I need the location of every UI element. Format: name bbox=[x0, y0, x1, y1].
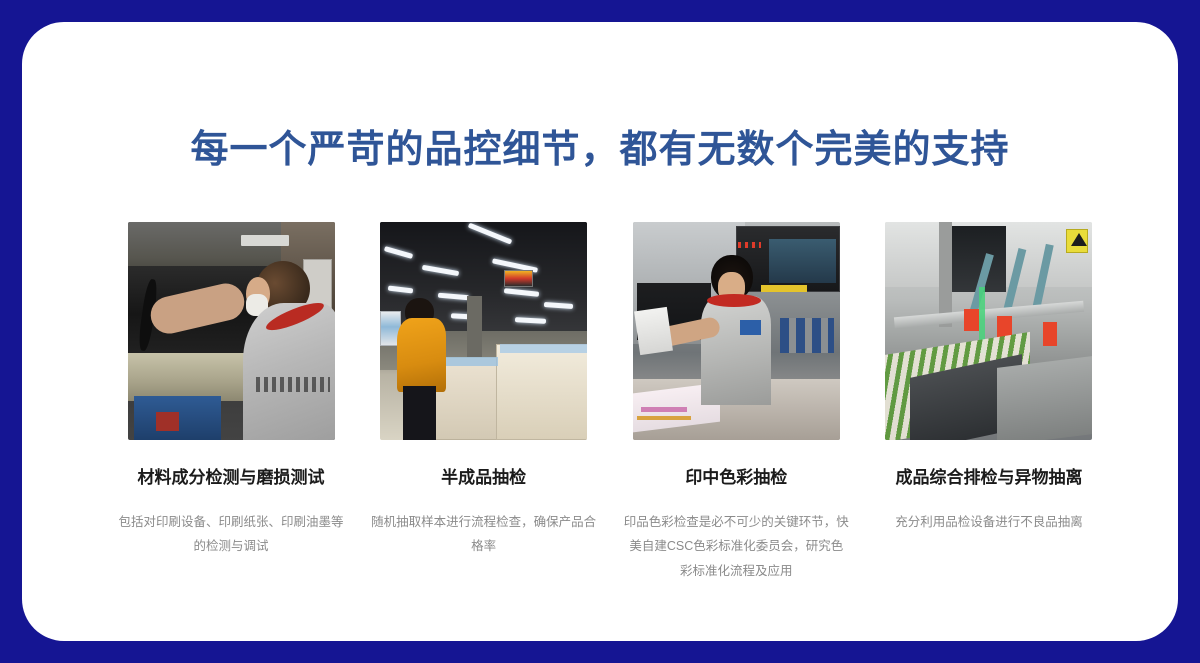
content-panel: 每一个严苛的品控细节，都有无数个完美的支持 材料成分检测与磨损测试 包括对印刷设… bbox=[22, 22, 1178, 641]
page-title: 每一个严苛的品控细节，都有无数个完美的支持 bbox=[22, 118, 1178, 173]
card-title: 材料成分检测与磨损测试 bbox=[138, 467, 325, 489]
page-frame: 每一个严苛的品控细节，都有无数个完美的支持 材料成分检测与磨损测试 包括对印刷设… bbox=[0, 0, 1200, 663]
card-title: 成品综合排检与异物抽离 bbox=[895, 467, 1082, 489]
card-material-inspection[interactable]: 材料成分检测与磨损测试 包括对印刷设备、印刷纸张、印刷油墨等的检测与调试 bbox=[115, 222, 347, 559]
card-description: 随机抽取样本进行流程检查，确保产品合格率 bbox=[371, 510, 597, 559]
card-semifinished-sampling[interactable]: 半成品抽检 随机抽取样本进行流程检查，确保产品合格率 bbox=[368, 222, 600, 559]
card-description: 印品色彩检查是必不可少的关键环节，快美自建CSC色彩标准化委员会，研究色彩标准化… bbox=[623, 510, 849, 583]
card-finished-product-screening[interactable]: 成品综合排检与异物抽离 充分利用品检设备进行不良品抽离 bbox=[873, 222, 1105, 534]
card-title: 印中色彩抽检 bbox=[685, 467, 787, 489]
card-description: 包括对印刷设备、印刷纸张、印刷油墨等的检测与调试 bbox=[118, 510, 344, 559]
photo-operator-checking-printed-sheet-color bbox=[633, 222, 840, 440]
card-description: 充分利用品检设备进行不良品抽离 bbox=[876, 510, 1102, 534]
photo-worker-adjusting-printing-machine bbox=[128, 222, 335, 440]
photo-warehouse-paper-stacks-inspection bbox=[380, 222, 587, 440]
quality-control-cards: 材料成分检测与磨损测试 包括对印刷设备、印刷纸张、印刷油墨等的检测与调试 半成品… bbox=[115, 222, 1105, 583]
card-inprint-color-sampling[interactable]: 印中色彩抽检 印品色彩检查是必不可少的关键环节，快美自建CSC色彩标准化委员会，… bbox=[620, 222, 852, 583]
photo-conveyor-finished-product-inspection bbox=[885, 222, 1092, 440]
card-title: 半成品抽检 bbox=[441, 467, 526, 489]
